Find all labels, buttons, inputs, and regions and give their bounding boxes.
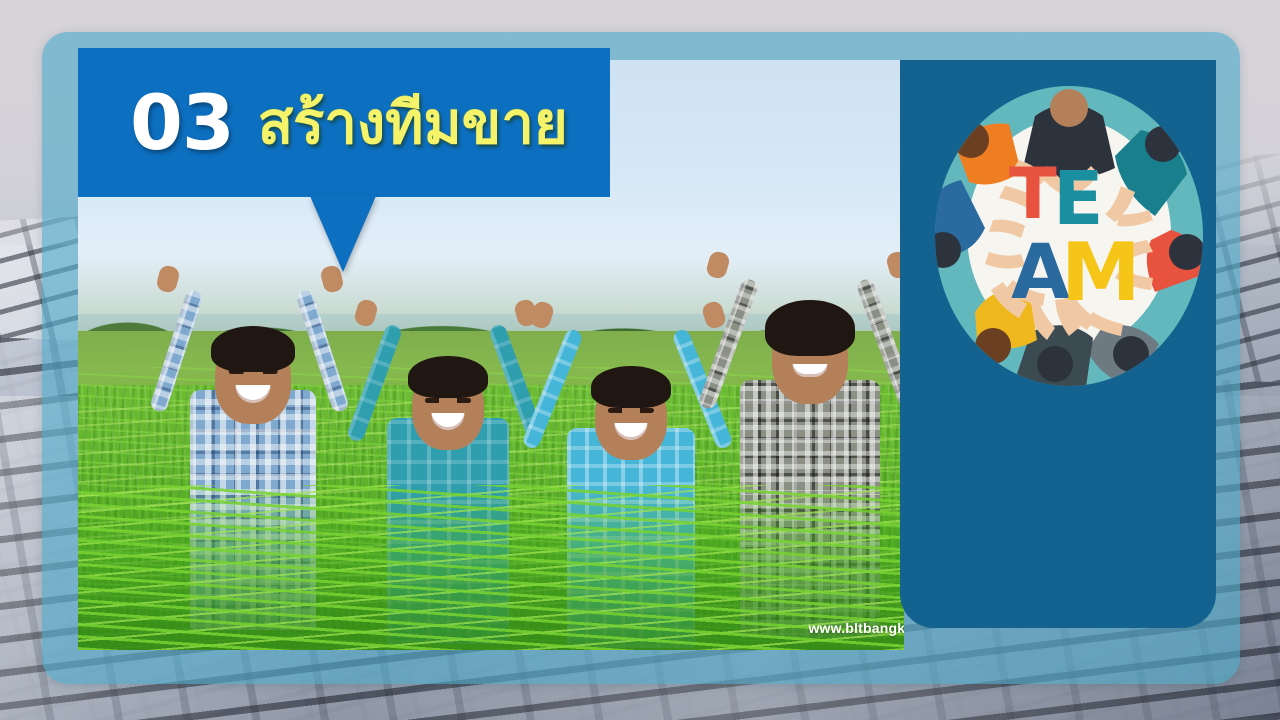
- farmer-1-smile: [236, 385, 271, 403]
- team-illustration-svg: T E A M: [935, 82, 1203, 390]
- photo-watermark: www.bltbangko: [808, 620, 904, 636]
- farmer-4-hair: [765, 300, 855, 356]
- banner-pointer-icon: [310, 196, 376, 272]
- farmer-3-hair: [591, 366, 671, 408]
- farmer-1-hair: [211, 326, 295, 372]
- farmer-2-eyes: [425, 398, 471, 403]
- farmer-3-eyes: [608, 408, 654, 413]
- section-title: สร้างทีมขาย: [258, 94, 568, 152]
- farmer-3-smile: [614, 423, 647, 440]
- team-letter-T: T: [1009, 153, 1057, 235]
- team-illustration: T E A M: [935, 82, 1203, 390]
- slide-canvas: www.bltbangko: [0, 0, 1280, 720]
- section-number: 03: [130, 85, 234, 161]
- farmer-2-left-hand: [353, 298, 379, 329]
- farmer-2-smile: [431, 413, 464, 430]
- farmer-2-hair: [408, 356, 488, 398]
- section-banner: 03 สร้างทีมขาย: [78, 48, 610, 197]
- photo-foreground-grass: [78, 485, 904, 650]
- farmer-4-smile: [793, 364, 828, 377]
- team-letter-M: M: [1061, 226, 1141, 319]
- farmer-4-left-hand: [705, 250, 731, 281]
